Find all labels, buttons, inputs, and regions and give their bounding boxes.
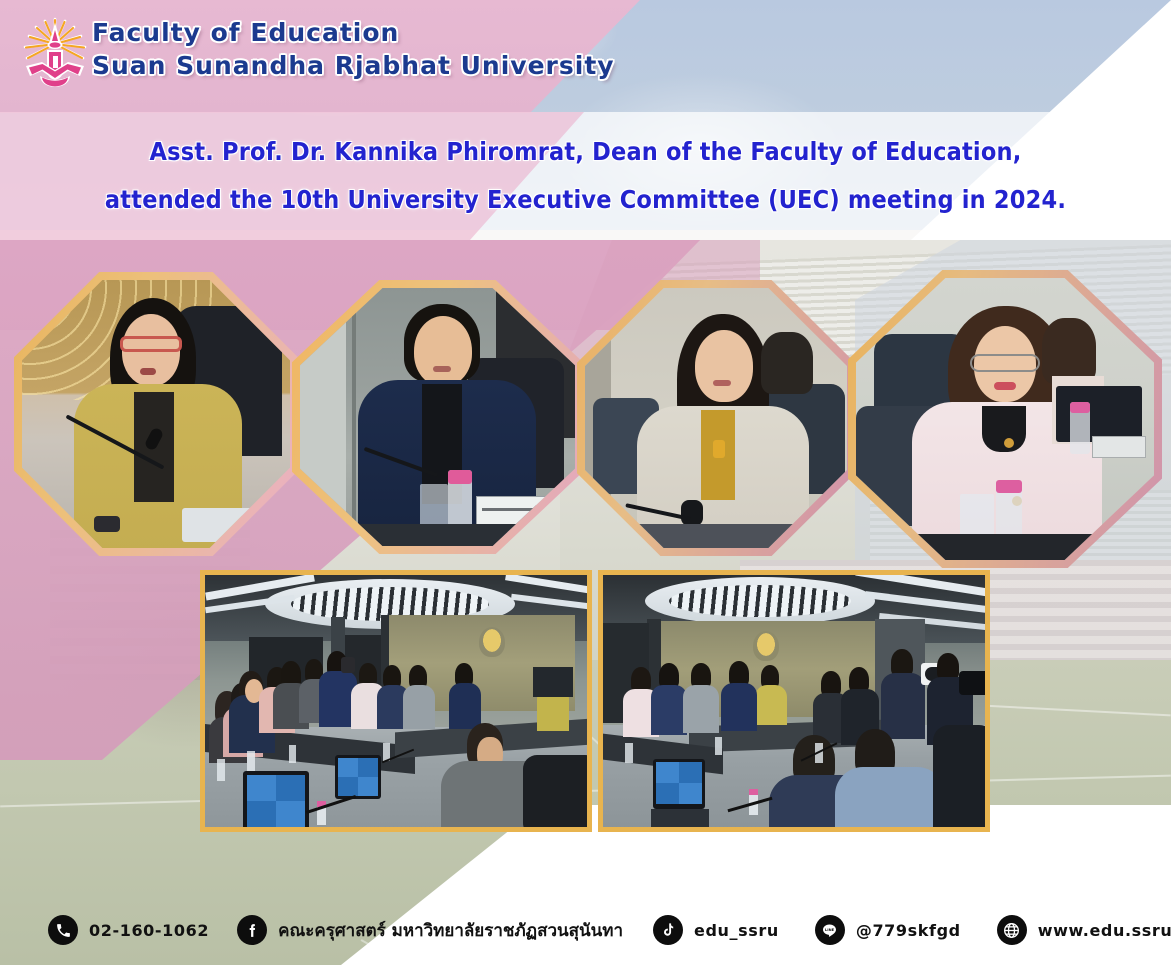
footer-facebook-label: คณะครุศาสตร์ มหาวิทยาลัยราชภัฏสวนสุนันทา <box>278 917 623 944</box>
header-line-1: Faculty of Education <box>92 20 615 45</box>
footer-item-facebook[interactable]: คณะครุศาสตร์ มหาวิทยาลัยราชภัฏสวนสุนันทา <box>237 915 623 945</box>
octagon-photo-2 <box>292 280 583 554</box>
title-line-2: attended the 10th University Executive C… <box>0 176 1171 224</box>
footer-item-phone[interactable]: 02-160-1062 <box>48 915 209 945</box>
page-title: Asst. Prof. Dr. Kannika Phiromrat, Dean … <box>0 128 1171 224</box>
footer-tiktok-label: edu_ssru <box>694 921 779 940</box>
footer-item-tiktok[interactable]: edu_ssru <box>653 915 779 945</box>
phone-icon <box>48 915 78 945</box>
tiktok-icon <box>653 915 683 945</box>
header-title-block: Faculty of Education Suan Sunandha Rjabh… <box>92 20 615 78</box>
footer-contact-bar: 02-160-1062 คณะครุศาสตร์ มหาวิทยาลัยราชภ… <box>0 895 1171 965</box>
octagon-photo-3 <box>577 280 855 556</box>
facebook-icon <box>237 915 267 945</box>
header-line-2: Suan Sunandha Rjabhat University <box>92 53 615 78</box>
ssru-emblem-logo <box>20 14 90 99</box>
footer-item-line[interactable]: LINE @779skfgd <box>815 915 961 945</box>
footer-phone-label: 02-160-1062 <box>89 921 209 940</box>
svg-text:LINE: LINE <box>825 928 835 932</box>
meeting-room-photo-1 <box>200 570 592 832</box>
footer-line-label: @779skfgd <box>856 921 961 940</box>
octagon-photo-4 <box>848 270 1162 568</box>
footer-item-website[interactable]: www.edu.ssru.ac.th <box>997 915 1171 945</box>
line-icon: LINE <box>815 915 845 945</box>
footer-website-label: www.edu.ssru.ac.th <box>1038 921 1171 940</box>
octagon-photo-1 <box>14 272 298 556</box>
octagon-photo-1-image <box>22 280 290 548</box>
meeting-room-photo-2 <box>598 570 990 832</box>
poster-canvas: Faculty of Education Suan Sunandha Rjabh… <box>0 0 1171 965</box>
octagon-photo-2-image <box>300 288 575 546</box>
title-line-1: Asst. Prof. Dr. Kannika Phiromrat, Dean … <box>0 128 1171 176</box>
globe-icon <box>997 915 1027 945</box>
